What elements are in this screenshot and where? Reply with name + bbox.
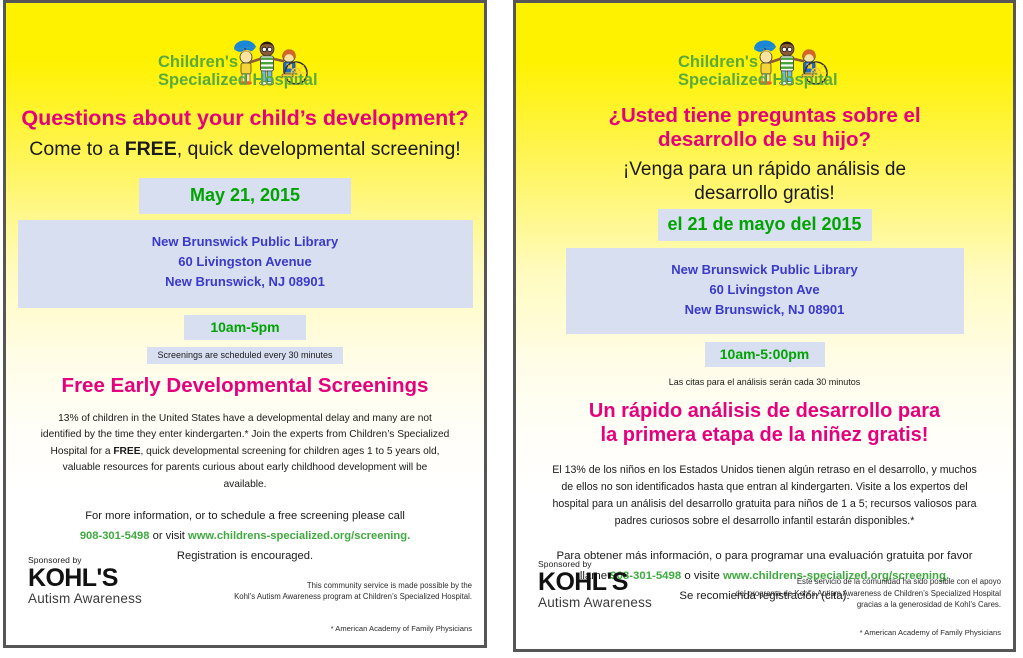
venue-street: 60 Livingston Avenue xyxy=(18,252,473,272)
website-link[interactable]: www.childrens-specialized.org/screening. xyxy=(188,530,410,542)
contact-line-2: 908-301-5498 or visit www.childrens-spec… xyxy=(36,527,454,547)
contact-connector: or visit xyxy=(149,530,188,542)
kohls-sponsor-logo: Sponsored by KOHL'S Autism Awareness xyxy=(538,559,652,611)
body-paragraph: El 13% de los niños en los Estados Unido… xyxy=(550,462,979,531)
community-service-disclaimer: Este servicio de la comunidad ha sido po… xyxy=(735,576,1001,611)
venue-box: New Brunswick Public Library 60 Livingst… xyxy=(18,220,473,308)
event-time-box: 10am-5pm xyxy=(184,315,306,340)
page-subtitle-line-2: desarrollo gratis! xyxy=(526,182,1003,205)
event-time-box: 10am-5:00pm xyxy=(705,342,825,367)
children-specialized-hospital-logo: Children's Specialized Hospital xyxy=(156,29,334,95)
aafp-footnote: * American Academy of Family Physicians xyxy=(860,628,1001,637)
logo-container: Children's Specialized Hospital xyxy=(16,3,474,95)
body-paragraph: 13% of children in the United States hav… xyxy=(40,411,450,494)
svg-text:Children's: Children's xyxy=(158,53,238,71)
kohls-tagline: Autism Awareness xyxy=(538,595,652,611)
event-date-box: el 21 de mayo del 2015 xyxy=(658,209,872,241)
time-note: Las citas para el análisis serán cada 30… xyxy=(659,374,871,391)
page-title-line-2: desarrollo de su hijo? xyxy=(526,128,1003,152)
contact-line-1: For more information, or to schedule a f… xyxy=(36,507,454,527)
time-note: Screenings are scheduled every 30 minute… xyxy=(147,347,342,364)
page-title: Questions about your child’s development… xyxy=(16,106,474,131)
phone-number[interactable]: 908-301-5498 xyxy=(80,530,150,542)
disclaimer-line-3: gracias a la generosidad de Kohl’s Cares… xyxy=(735,599,1001,611)
svg-text:Specialized Hospital: Specialized Hospital xyxy=(678,71,838,89)
disclaimer-line-2: Kohl’s Autism Awareness program at Child… xyxy=(234,591,472,603)
body-free-emphasis: FREE xyxy=(113,446,140,457)
kohls-wordmark: KOHL'S xyxy=(28,566,142,591)
subtitle-part-1: Come to a xyxy=(29,138,124,160)
svg-text:Children's: Children's xyxy=(678,53,758,71)
section-headline-line-2: la primera etapa de la niñez gratis! xyxy=(526,423,1003,447)
kohls-wordmark: KOHL'S xyxy=(538,570,652,595)
flyer-page-english: Children's Specialized Hospital Question… xyxy=(3,0,487,648)
venue-name: New Brunswick Public Library xyxy=(18,232,473,252)
section-headline: Un rápido análisis de desarrollo para la… xyxy=(526,399,1003,447)
venue-city-state-zip: New Brunswick, NJ 08901 xyxy=(566,300,964,320)
flyer-page-spanish: Children's Specialized Hospital ¿Usted t… xyxy=(513,0,1016,652)
document-viewer: Children's Specialized Hospital Question… xyxy=(0,0,1023,658)
page-subtitle-line-1: ¡Venga para un rápido análisis de xyxy=(526,158,1003,181)
venue-street: 60 Livingston Ave xyxy=(566,280,964,300)
section-headline-line-1: Un rápido análisis de desarrollo para xyxy=(526,399,1003,423)
footer: Sponsored by KOHL'S Autism Awareness Est… xyxy=(516,563,1013,649)
logo-container-es: Children's Specialized Hospital xyxy=(526,3,1003,95)
venue-box: New Brunswick Public Library 60 Livingst… xyxy=(566,248,964,334)
page-subtitle: Come to a FREE, quick developmental scre… xyxy=(16,138,474,162)
time-note-row: Las citas para el análisis serán cada 30… xyxy=(526,372,1003,391)
disclaimer-line-1: This community service is made possible … xyxy=(234,580,472,592)
time-note-row: Screenings are scheduled every 30 minute… xyxy=(16,345,474,364)
children-specialized-hospital-logo: Children's Specialized Hospital xyxy=(676,29,854,95)
disclaimer-line-2: del programa de Kohl’s Autism Awareness … xyxy=(735,588,1001,600)
event-date-box: May 21, 2015 xyxy=(139,178,351,214)
page-title-line-1: ¿Usted tiene preguntas sobre el xyxy=(526,104,1003,128)
disclaimer-line-1: Este servicio de la comunidad ha sido po… xyxy=(735,576,1001,588)
page-subtitle: ¡Venga para un rápido análisis de desarr… xyxy=(526,158,1003,204)
subtitle-part-2: , quick developmental screening! xyxy=(177,138,461,160)
community-service-disclaimer: This community service is made possible … xyxy=(234,580,472,603)
aafp-footnote: * American Academy of Family Physicians xyxy=(331,624,472,633)
kohls-sponsor-logo: Sponsored by KOHL'S Autism Awareness xyxy=(28,555,142,607)
venue-city-state-zip: New Brunswick, NJ 08901 xyxy=(18,272,473,292)
venue-name: New Brunswick Public Library xyxy=(566,260,964,280)
kohls-tagline: Autism Awareness xyxy=(28,591,142,607)
subtitle-free-emphasis: FREE xyxy=(125,138,177,160)
footer: Sponsored by KOHL'S Autism Awareness Thi… xyxy=(6,559,484,645)
section-headline: Free Early Developmental Screenings xyxy=(16,374,474,399)
svg-text:Specialized Hospital: Specialized Hospital xyxy=(158,71,318,89)
page-title: ¿Usted tiene preguntas sobre el desarrol… xyxy=(526,104,1003,152)
